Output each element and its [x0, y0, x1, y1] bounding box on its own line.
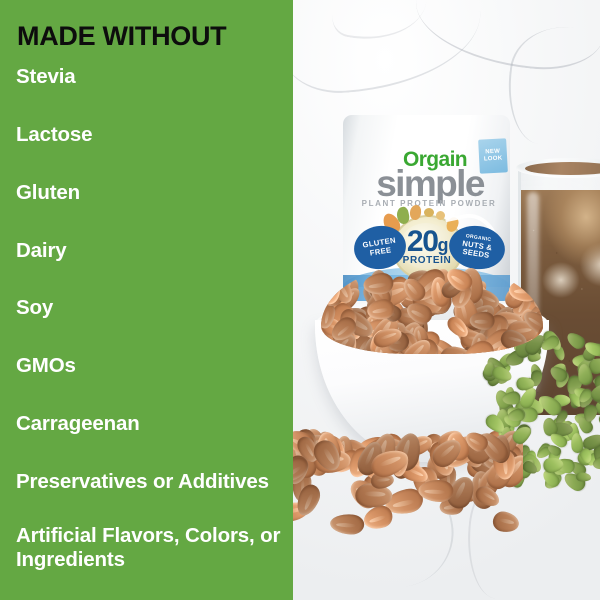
pumpkin-seed [582, 404, 598, 423]
almond-heap [321, 262, 543, 354]
product-descriptor: PLANT PROTEIN POWDER [358, 200, 500, 208]
pumpkin-seed [564, 329, 587, 351]
protein-amount-value: 20 [407, 225, 438, 258]
list-item: Dairy [16, 239, 291, 263]
page-title: MADE WITHOUT [17, 22, 293, 50]
seed-illustration-icon [424, 208, 434, 217]
gluten-free-line2: FREE [369, 245, 392, 257]
exclusion-list: Stevia Lactose Gluten Dairy Soy GMOs Car… [16, 65, 293, 572]
list-item: Carrageenan [16, 412, 291, 436]
almond [509, 279, 539, 302]
new-look-tag-label: NEW LOOK [483, 149, 502, 163]
seed-illustration-icon [436, 211, 445, 220]
product-photograph: Orgain simple PLANT PROTEIN POWDER NEW L… [293, 0, 600, 600]
new-look-line2: LOOK [484, 156, 503, 163]
list-item: Lactose [16, 123, 291, 147]
almond [491, 510, 521, 535]
made-without-panel: MADE WITHOUT Stevia Lactose Gluten Dairy… [0, 0, 293, 600]
list-item: Gluten [16, 181, 291, 205]
list-item: Stevia [16, 65, 291, 89]
marble-vein-icon [500, 20, 600, 152]
promotional-poster: MADE WITHOUT Stevia Lactose Gluten Dairy… [0, 0, 600, 600]
list-item: Preservatives or Additives [16, 470, 291, 494]
list-item: GMOs [16, 354, 291, 378]
almond [330, 512, 365, 534]
marble-vein-icon [293, 11, 485, 97]
list-item: Soy [16, 296, 291, 320]
new-look-tag: NEW LOOK [478, 138, 508, 173]
protein-amount-unit: g [437, 235, 447, 255]
marble-vein-icon [410, 0, 600, 76]
protein-amount: 20g [394, 227, 460, 257]
spilled-almonds [293, 428, 523, 538]
list-item: Artificial Flavors, Colors, or Ingredien… [16, 524, 291, 572]
marble-vein-icon [330, 0, 427, 49]
